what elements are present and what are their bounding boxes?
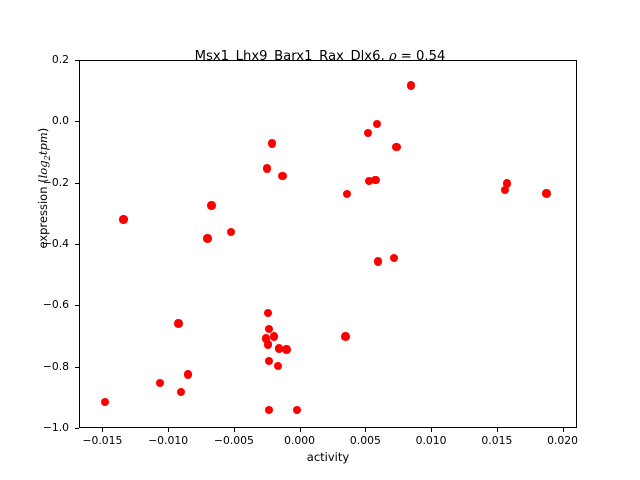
scatter-point <box>156 379 164 387</box>
x-tick-mark <box>563 428 564 432</box>
y-tick-label: 0.0 <box>0 114 69 127</box>
y-axis-label: expression (log2tpm) <box>36 58 52 318</box>
scatter-point <box>274 362 282 370</box>
scatter-point <box>174 319 182 327</box>
y-tick-mark <box>75 428 79 429</box>
scatter-point <box>343 190 351 198</box>
scatter-point <box>265 406 273 414</box>
scatter-point <box>390 254 398 262</box>
y-axis-unit: log2tpm <box>36 132 50 178</box>
scatter-point <box>373 120 381 128</box>
x-tick-mark <box>365 428 366 432</box>
x-tick-mark <box>431 428 432 432</box>
scatter-point <box>268 139 276 147</box>
x-tick-label: 0.020 <box>528 434 598 447</box>
scatter-point <box>270 332 278 340</box>
y-axis-label-suffix: ) <box>36 128 50 133</box>
scatter-point <box>371 176 379 184</box>
scatter-point <box>263 164 271 172</box>
x-tick-mark <box>102 428 103 432</box>
scatter-point <box>341 332 349 340</box>
y-tick-label: −1.0 <box>0 421 69 434</box>
x-tick-label: 0.005 <box>330 434 400 447</box>
y-tick-label: −0.8 <box>0 360 69 373</box>
scatter-point <box>101 398 109 406</box>
scatter-plot-figure: Msx1_Lhx9_Barx1_Rax_Dlx6, ρ = 0.54 mm39_… <box>0 0 640 480</box>
scatter-point <box>374 257 382 265</box>
x-tick-mark <box>497 428 498 432</box>
scatter-point <box>184 370 192 378</box>
y-tick-label: −0.4 <box>0 237 69 250</box>
y-tick-label: −0.6 <box>0 298 69 311</box>
scatter-point <box>264 340 272 348</box>
y-axis-label-prefix: expression ( <box>36 178 50 248</box>
scatter-point <box>265 357 273 365</box>
y-axis-unit-main: log <box>36 160 50 178</box>
scatter-point <box>264 309 272 317</box>
x-tick-label: 0.015 <box>462 434 532 447</box>
x-tick-mark <box>300 428 301 432</box>
scatter-point <box>282 345 290 353</box>
y-axis-unit-subscript: 2 <box>42 155 52 160</box>
scatter-point <box>392 143 400 151</box>
scatter-point <box>503 179 511 187</box>
y-axis-unit-tail: tpm <box>36 132 50 155</box>
x-tick-label: −0.010 <box>133 434 203 447</box>
scatter-point <box>207 201 215 209</box>
scatter-point <box>293 406 301 414</box>
scatter-point <box>278 172 286 180</box>
scatter-point <box>203 234 211 242</box>
scatter-points-layer <box>80 61 576 427</box>
x-axis-label: activity <box>79 450 577 464</box>
scatter-point <box>364 129 372 137</box>
x-tick-label: −0.015 <box>67 434 137 447</box>
scatter-point <box>407 81 415 89</box>
x-tick-label: 0.010 <box>396 434 466 447</box>
x-tick-mark <box>168 428 169 432</box>
y-tick-label: −0.2 <box>0 176 69 189</box>
x-tick-label: 0.000 <box>265 434 335 447</box>
x-tick-label: −0.005 <box>199 434 269 447</box>
scatter-point <box>119 215 127 223</box>
y-tick-label: 0.2 <box>0 53 69 66</box>
scatter-point <box>177 388 185 396</box>
x-tick-mark <box>234 428 235 432</box>
scatter-point <box>542 189 550 197</box>
plot-axes <box>79 60 577 428</box>
scatter-point <box>227 228 235 236</box>
